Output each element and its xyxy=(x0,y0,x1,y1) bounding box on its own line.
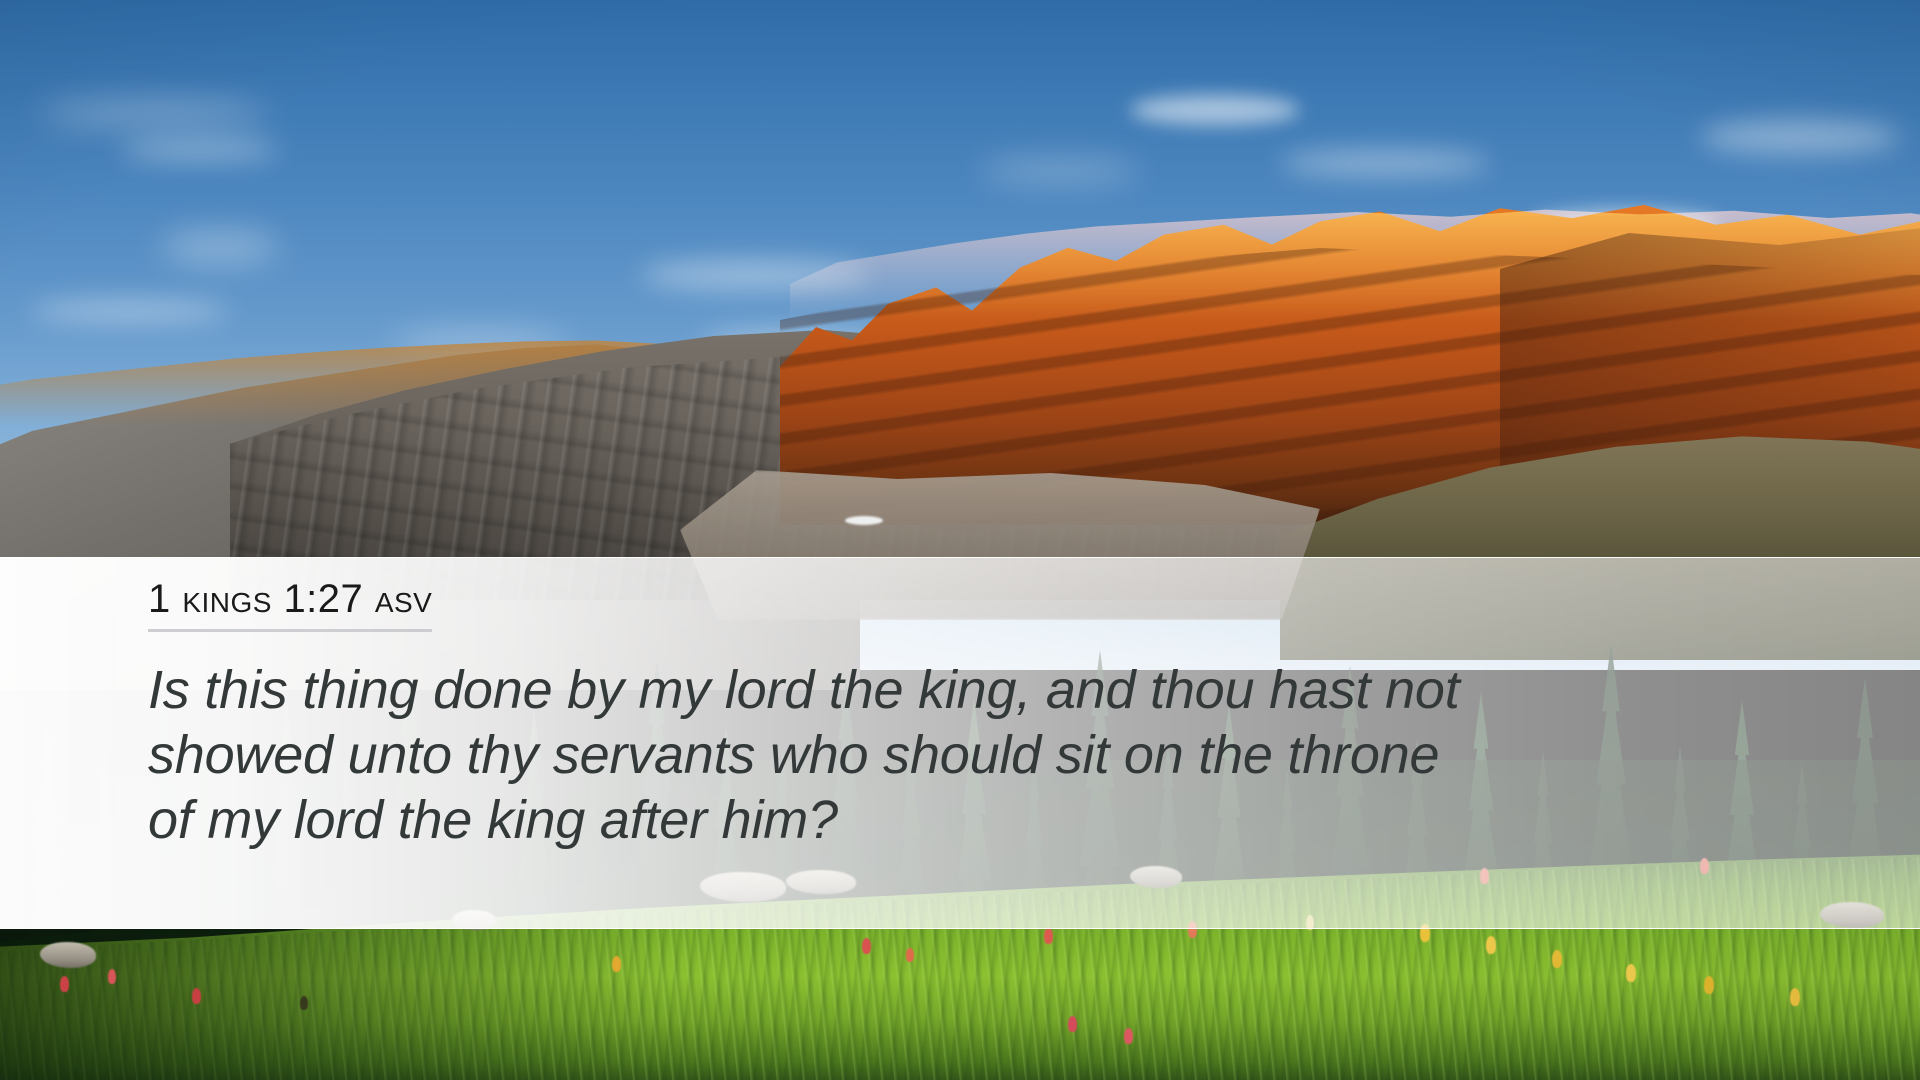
flower-icon xyxy=(1790,988,1800,1006)
flower-icon xyxy=(1626,964,1636,982)
rock-icon xyxy=(40,942,96,968)
cloud-icon xyxy=(160,230,280,264)
verse-line: Is this thing done by my lord the king, … xyxy=(148,658,1808,723)
flower-icon xyxy=(612,956,621,972)
flower-icon xyxy=(108,969,116,984)
flower-icon xyxy=(1124,1028,1133,1044)
verse-wallpaper: 1 Kings 1:27 ASV Is this thing done by m… xyxy=(0,0,1920,1080)
flower-icon xyxy=(1552,950,1562,968)
cloud-icon xyxy=(30,300,230,322)
verse-content: 1 Kings 1:27 ASV Is this thing done by m… xyxy=(148,578,1848,853)
flower-icon xyxy=(906,948,914,962)
verse-overlay-band: 1 Kings 1:27 ASV Is this thing done by m… xyxy=(0,557,1920,929)
flower-icon xyxy=(1704,976,1714,994)
flower-icon xyxy=(1068,1016,1077,1032)
cloud-icon xyxy=(1130,95,1300,125)
flower-icon xyxy=(192,988,201,1004)
flower-icon xyxy=(300,996,308,1010)
cloud-icon xyxy=(120,140,280,160)
cloud-icon xyxy=(1700,120,1900,154)
verse-line: of my lord the king after him? xyxy=(148,788,1808,853)
cloud-icon xyxy=(1280,150,1490,176)
flower-icon xyxy=(1486,936,1496,954)
cloud-icon xyxy=(40,100,270,126)
flower-icon xyxy=(1044,928,1053,944)
verse-text: Is this thing done by my lord the king, … xyxy=(148,658,1808,852)
cloud-icon xyxy=(980,160,1140,182)
verse-line: showed unto thy servants who should sit … xyxy=(148,723,1808,788)
flower-icon xyxy=(862,938,871,954)
flower-icon xyxy=(60,976,69,992)
verse-reference: 1 Kings 1:27 ASV xyxy=(148,578,432,632)
